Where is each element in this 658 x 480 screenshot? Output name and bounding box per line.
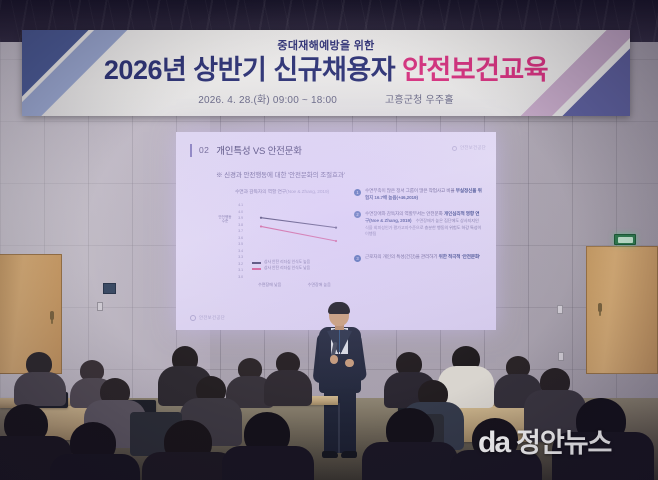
door-handle <box>598 303 602 312</box>
bullet-main: 근로자의 개인의 특성(건강)을 관리하기 <box>365 254 437 259</box>
watermark-text: 정안뉴스 <box>516 430 611 457</box>
slide-title: 개인특성 VS 안전문화 <box>216 143 301 157</box>
bullet-sub-line: 평가고지수준으로 충분한 행동의 위험도 하강 특성이 <box>393 225 481 230</box>
watermark-logo-mark: da <box>478 428 509 458</box>
banner-datetime: 2026. 4. 28.(화) 09:00 ~ 18:00 <box>198 95 337 106</box>
bullet-number: 1 <box>354 189 361 196</box>
ytick: 3.0 <box>233 275 243 279</box>
event-banner: 중대재해예방을 위한 2026년 상반기 신규채용자 안전보건교육 2026. … <box>22 30 630 116</box>
banner-meta: 2026. 4. 28.(화) 09:00 ~ 18:00 고흥군청 우주홀 <box>22 91 630 106</box>
slide-chart: 수면과 감독자의 역할 연구(Noe & Zhang, 2019) 안전행동 수… <box>218 188 346 300</box>
slide-bullet-list: 1 수면부족이 많은 정서 그룹이 많은 작업사고 비율 부실정신을 위험지 1… <box>354 188 482 271</box>
bullet-highlight: 위한 적극적 '안전문화' <box>439 254 480 259</box>
slide-corner-logo: 안전보건공단 <box>452 145 486 151</box>
bullet-text: 수면장애와 감독자의 역할부서는 안전문화 개인심리적 영향 연구(Noe & … <box>365 211 482 239</box>
ytick: 3.5 <box>233 242 243 246</box>
chart-ylabel: 안전행동 수준 <box>218 215 232 224</box>
door-handle <box>50 311 54 320</box>
bullet-main: 수면장애와 감독자의 역할부서는 안전문화 <box>365 211 443 216</box>
chart-yticks: 4.1 4.0 3.9 3.8 3.7 3.6 3.5 3.4 3.3 3.2 … <box>233 203 243 279</box>
ytick: 4.1 <box>233 203 243 207</box>
chart-xticks: 수면장애 낮음 수면장애 높음 <box>245 282 344 288</box>
banner-subtitle: 중대재해예방을 위한 <box>22 37 630 53</box>
conference-photo: 중대재해예방을 위한 2026년 상반기 신규채용자 안전보건교육 2026. … <box>0 0 658 480</box>
ytick: 3.3 <box>233 255 243 259</box>
ytick: 3.9 <box>233 216 243 220</box>
speaker-shoe-left <box>322 451 338 458</box>
speaker-leg-split <box>338 403 340 453</box>
slide-header: 02 개인특성 VS 안전문화 <box>190 143 302 157</box>
chart-title: 수면과 감독자의 역할 연구(Noe & Zhang, 2019) <box>218 188 346 195</box>
speaker-hand-right <box>345 359 354 367</box>
wall-outlet[interactable] <box>558 352 564 361</box>
slide-footer-logo: 안전보건공단 <box>190 315 225 321</box>
slide-subtitle: ※ 신경과 안전행동에 대한 '안전문화의 조절효과' <box>216 169 345 179</box>
slide-corner-logo-text: 안전보건공단 <box>460 145 486 151</box>
speaker-hair <box>328 302 350 314</box>
slide-footer-logo-text: 안전보건공단 <box>199 315 225 321</box>
speaker-trousers <box>324 389 356 453</box>
slide-number: 02 <box>199 145 209 155</box>
bullet-number: 3 <box>354 255 361 262</box>
ytick: 3.4 <box>233 249 243 253</box>
bullet-number: 2 <box>354 211 361 218</box>
legend-label: 상사 안전 리더십 인식도 낮음 <box>264 266 310 272</box>
ytick: 3.2 <box>233 262 243 266</box>
speaker-shoe-right <box>341 451 357 458</box>
news-watermark: da 정안뉴스 <box>478 428 611 458</box>
door-right[interactable] <box>586 246 658 374</box>
ytick: 3.1 <box>233 268 243 272</box>
ytick: 3.8 <box>233 223 243 227</box>
wall-switch[interactable] <box>97 302 103 311</box>
speaker-presenter <box>305 303 375 465</box>
exit-sign-icon <box>614 234 636 245</box>
logo-ring-icon <box>190 315 196 321</box>
legend-swatch <box>252 262 261 263</box>
banner-venue: 고흥군청 우주홀 <box>385 95 454 106</box>
chart-source: (Noe & Zhang, 2019) <box>286 190 329 195</box>
wall-control-panel[interactable] <box>103 283 116 294</box>
ytick: 3.6 <box>233 236 243 240</box>
wall-switch[interactable] <box>557 305 563 314</box>
chart-legend: 상사 안전 리더십 인식도 높음 상사 안전 리더십 인식도 낮음 <box>252 260 310 272</box>
door-left[interactable] <box>0 254 62 374</box>
bullet-text: 근로자의 개인의 특성(건강)을 관리하기 위한 적극적 '안전문화' <box>365 254 480 262</box>
bullet-item: 1 수면부족이 많은 정서 그룹이 많은 작업사고 비율 부실정신을 위험지 1… <box>354 188 482 202</box>
banner-title-pink: 안전보건교육 <box>402 55 548 85</box>
legend-swatch <box>252 268 261 269</box>
bullet-sub-line: 이행됨 <box>365 231 376 236</box>
ytick: 4.0 <box>233 210 243 214</box>
xtick: 수면장애 낮음 <box>258 282 281 288</box>
bullet-text: 수면부족이 많은 정서 그룹이 많은 작업사고 비율 부실정신을 위험지 16.… <box>365 188 482 202</box>
banner-title: 2026년 상반기 신규채용자 안전보건교육 <box>22 56 630 84</box>
logo-ring-icon <box>452 146 457 151</box>
legend-item: 상사 안전 리더십 인식도 낮음 <box>252 266 310 272</box>
speaker-hand-left <box>330 355 338 364</box>
ytick: 3.7 <box>233 229 243 233</box>
bullet-main: 수면부족이 많은 정서 그룹이 많은 작업사고 비율 <box>365 188 455 193</box>
xtick: 수면장애 높음 <box>308 282 331 288</box>
projection-screen: 02 개인특성 VS 안전문화 안전보건공단 ※ 신경과 안전행동에 대한 '안… <box>176 132 496 330</box>
banner-title-navy: 2026년 상반기 신규채용자 <box>104 55 402 85</box>
chart-title-text: 수면과 감독자의 역할 연구 <box>235 190 286 195</box>
bullet-item: 2 수면장애와 감독자의 역할부서는 안전문화 개인심리적 영향 연구(Noe … <box>354 211 482 239</box>
slide-accent-bar <box>190 144 192 157</box>
bullet-item: 3 근로자의 개인의 특성(건강)을 관리하기 위한 적극적 '안전문화' <box>354 254 482 262</box>
